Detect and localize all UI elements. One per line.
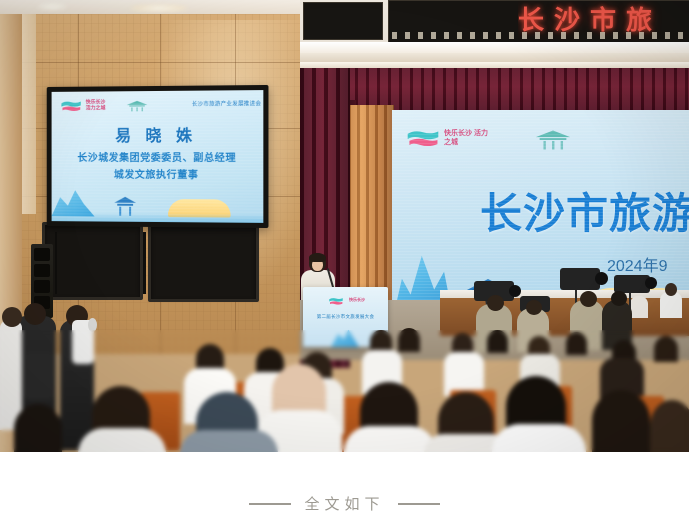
brand-wordmark-icon: 快乐长沙 bbox=[349, 298, 371, 306]
led-banner-bottom-lights bbox=[392, 32, 686, 39]
video-camera bbox=[560, 268, 600, 290]
standing-staff-head bbox=[24, 303, 46, 325]
brand-wordmark-icon: 快乐长沙 活力之城 bbox=[444, 129, 488, 147]
caption-rule-left bbox=[249, 503, 291, 505]
caption-text: 全文如下 bbox=[304, 493, 384, 514]
nameplate-led-screen: 快乐长沙活力之城 长沙市旅游产业发展推进会 易 晓 姝 长沙城发集团党委委员、副… bbox=[47, 85, 269, 228]
photographer-head bbox=[580, 291, 597, 307]
wave-graphic bbox=[52, 212, 264, 223]
speaker-hair bbox=[309, 253, 326, 262]
speaker-name: 易 晓 姝 bbox=[52, 127, 264, 148]
monitor-mount-post bbox=[143, 232, 146, 294]
wall-monitor-left bbox=[42, 222, 143, 300]
main-screen-title: 长沙市旅游 bbox=[480, 188, 689, 240]
wall-monitor-right bbox=[148, 224, 259, 302]
caption-rule-right bbox=[398, 503, 440, 505]
camera-lens-icon bbox=[645, 277, 657, 289]
speaker-role-line-1: 长沙城发集团党委委员、副总经理 bbox=[52, 152, 264, 166]
camera-lens-icon bbox=[595, 272, 608, 285]
conference-photo: 快乐长沙活力之城 长沙市旅游产业发展推进会 易 晓 姝 长沙城发集团党委委员、副… bbox=[0, 0, 689, 452]
ceiling-light bbox=[130, 4, 188, 12]
brand-logo-icon bbox=[406, 128, 440, 150]
standing-person-head bbox=[2, 307, 22, 327]
photographer-head bbox=[487, 295, 504, 311]
speaker-role-line-2: 城发文旅执行董事 bbox=[52, 169, 264, 184]
depth-of-field-blur bbox=[0, 330, 689, 452]
ceiling-light-secondary bbox=[37, 3, 67, 10]
brand-wordmark-icon: 快乐长沙活力之城 bbox=[86, 99, 116, 112]
monitor-mount-post bbox=[55, 232, 57, 294]
seated-official-head bbox=[665, 283, 677, 296]
brand-logo-icon bbox=[327, 297, 345, 306]
wall-light-column bbox=[22, 14, 36, 214]
seated-official bbox=[630, 296, 648, 318]
photographer-head bbox=[611, 291, 627, 306]
nameplate-header-text: 长沙市旅游产业发展推进会 bbox=[168, 99, 261, 111]
wall-seam bbox=[0, 62, 300, 63]
led-panel-small bbox=[303, 2, 383, 40]
article-image-block: 快乐长沙活力之城 长沙市旅游产业发展推进会 易 晓 姝 长沙城发集团党委委员、副… bbox=[0, 0, 689, 529]
podium-panel-text: 第二届长沙市文旅发展大会 bbox=[303, 313, 388, 320]
cornice-upper bbox=[300, 42, 689, 53]
photographer-head bbox=[526, 300, 542, 315]
pavilion-logo-icon bbox=[532, 128, 574, 152]
pavilion-logo-icon bbox=[124, 100, 150, 112]
camera-lens-icon bbox=[509, 285, 521, 297]
brand-logo-icon bbox=[60, 100, 81, 114]
caption-block: 全文如下 bbox=[0, 452, 689, 529]
caption-inner: 全文如下 bbox=[249, 493, 439, 514]
